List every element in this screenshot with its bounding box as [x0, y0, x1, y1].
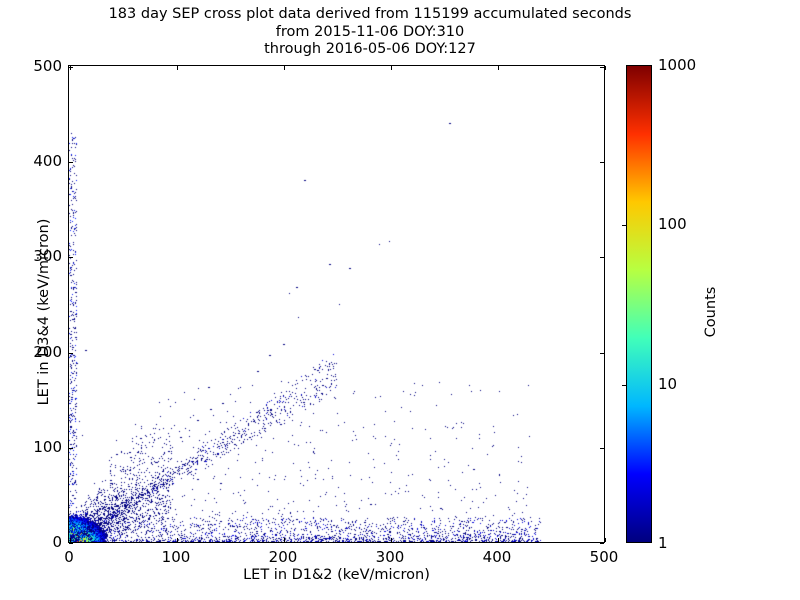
colorbar-tick-mark: [622, 385, 627, 386]
x-tick-mark: [177, 66, 178, 70]
x-tick-mark: [498, 538, 499, 542]
x-tick-mark: [391, 66, 392, 70]
x-tick-mark: [498, 66, 499, 70]
y-tick-mark: [69, 448, 73, 449]
y-tick-mark: [600, 67, 604, 68]
x-tick-label: 300: [376, 548, 405, 566]
y-tick-mark: [600, 257, 604, 258]
x-axis-label: LET in D1&2 (keV/micron): [68, 567, 605, 583]
title-line-3: through 2016-05-06 DOY:127: [0, 41, 740, 59]
x-tick-label: 500: [590, 548, 619, 566]
y-tick-mark: [69, 257, 73, 258]
colorbar-gradient: [627, 66, 651, 542]
colorbar: [626, 65, 652, 543]
y-tick-label: 0: [52, 533, 62, 551]
x-tick-mark: [391, 538, 392, 542]
x-tick-mark: [605, 66, 606, 70]
scatter-density-plot: [69, 66, 604, 542]
y-tick-label: 500: [33, 57, 62, 75]
y-tick-label: 400: [33, 152, 62, 170]
x-tick-mark: [284, 66, 285, 70]
x-tick-mark: [177, 538, 178, 542]
colorbar-tick-label: 1000: [658, 56, 696, 74]
title-line-2: from 2015-11-06 DOY:310: [0, 24, 740, 42]
y-tick-mark: [69, 353, 73, 354]
x-tick-mark: [605, 538, 606, 542]
colorbar-tick-label: 1: [658, 534, 668, 552]
x-tick-mark: [284, 538, 285, 542]
x-tick-label: 400: [483, 548, 512, 566]
colorbar-title: Counts: [703, 222, 719, 402]
y-axis-label: LET in D3&4 (keV/micron): [36, 182, 52, 442]
y-tick-mark: [69, 67, 73, 68]
y-tick-mark: [69, 162, 73, 163]
colorbar-tick-label: 10: [658, 375, 677, 393]
y-tick-mark: [600, 353, 604, 354]
title-line-1: 183 day SEP cross plot data derived from…: [0, 6, 740, 24]
y-tick-mark: [600, 448, 604, 449]
x-tick-mark: [70, 538, 71, 542]
colorbar-tick-mark: [622, 225, 627, 226]
y-tick-mark: [600, 543, 604, 544]
plot-axes: [68, 65, 605, 543]
y-tick-mark: [69, 543, 73, 544]
x-tick-label: 0: [64, 548, 74, 566]
colorbar-tick-label: 100: [658, 215, 687, 233]
plot-title: 183 day SEP cross plot data derived from…: [0, 6, 740, 59]
y-tick-mark: [600, 162, 604, 163]
x-tick-label: 200: [269, 548, 298, 566]
x-tick-label: 100: [162, 548, 191, 566]
figure-canvas: 183 day SEP cross plot data derived from…: [0, 0, 800, 600]
